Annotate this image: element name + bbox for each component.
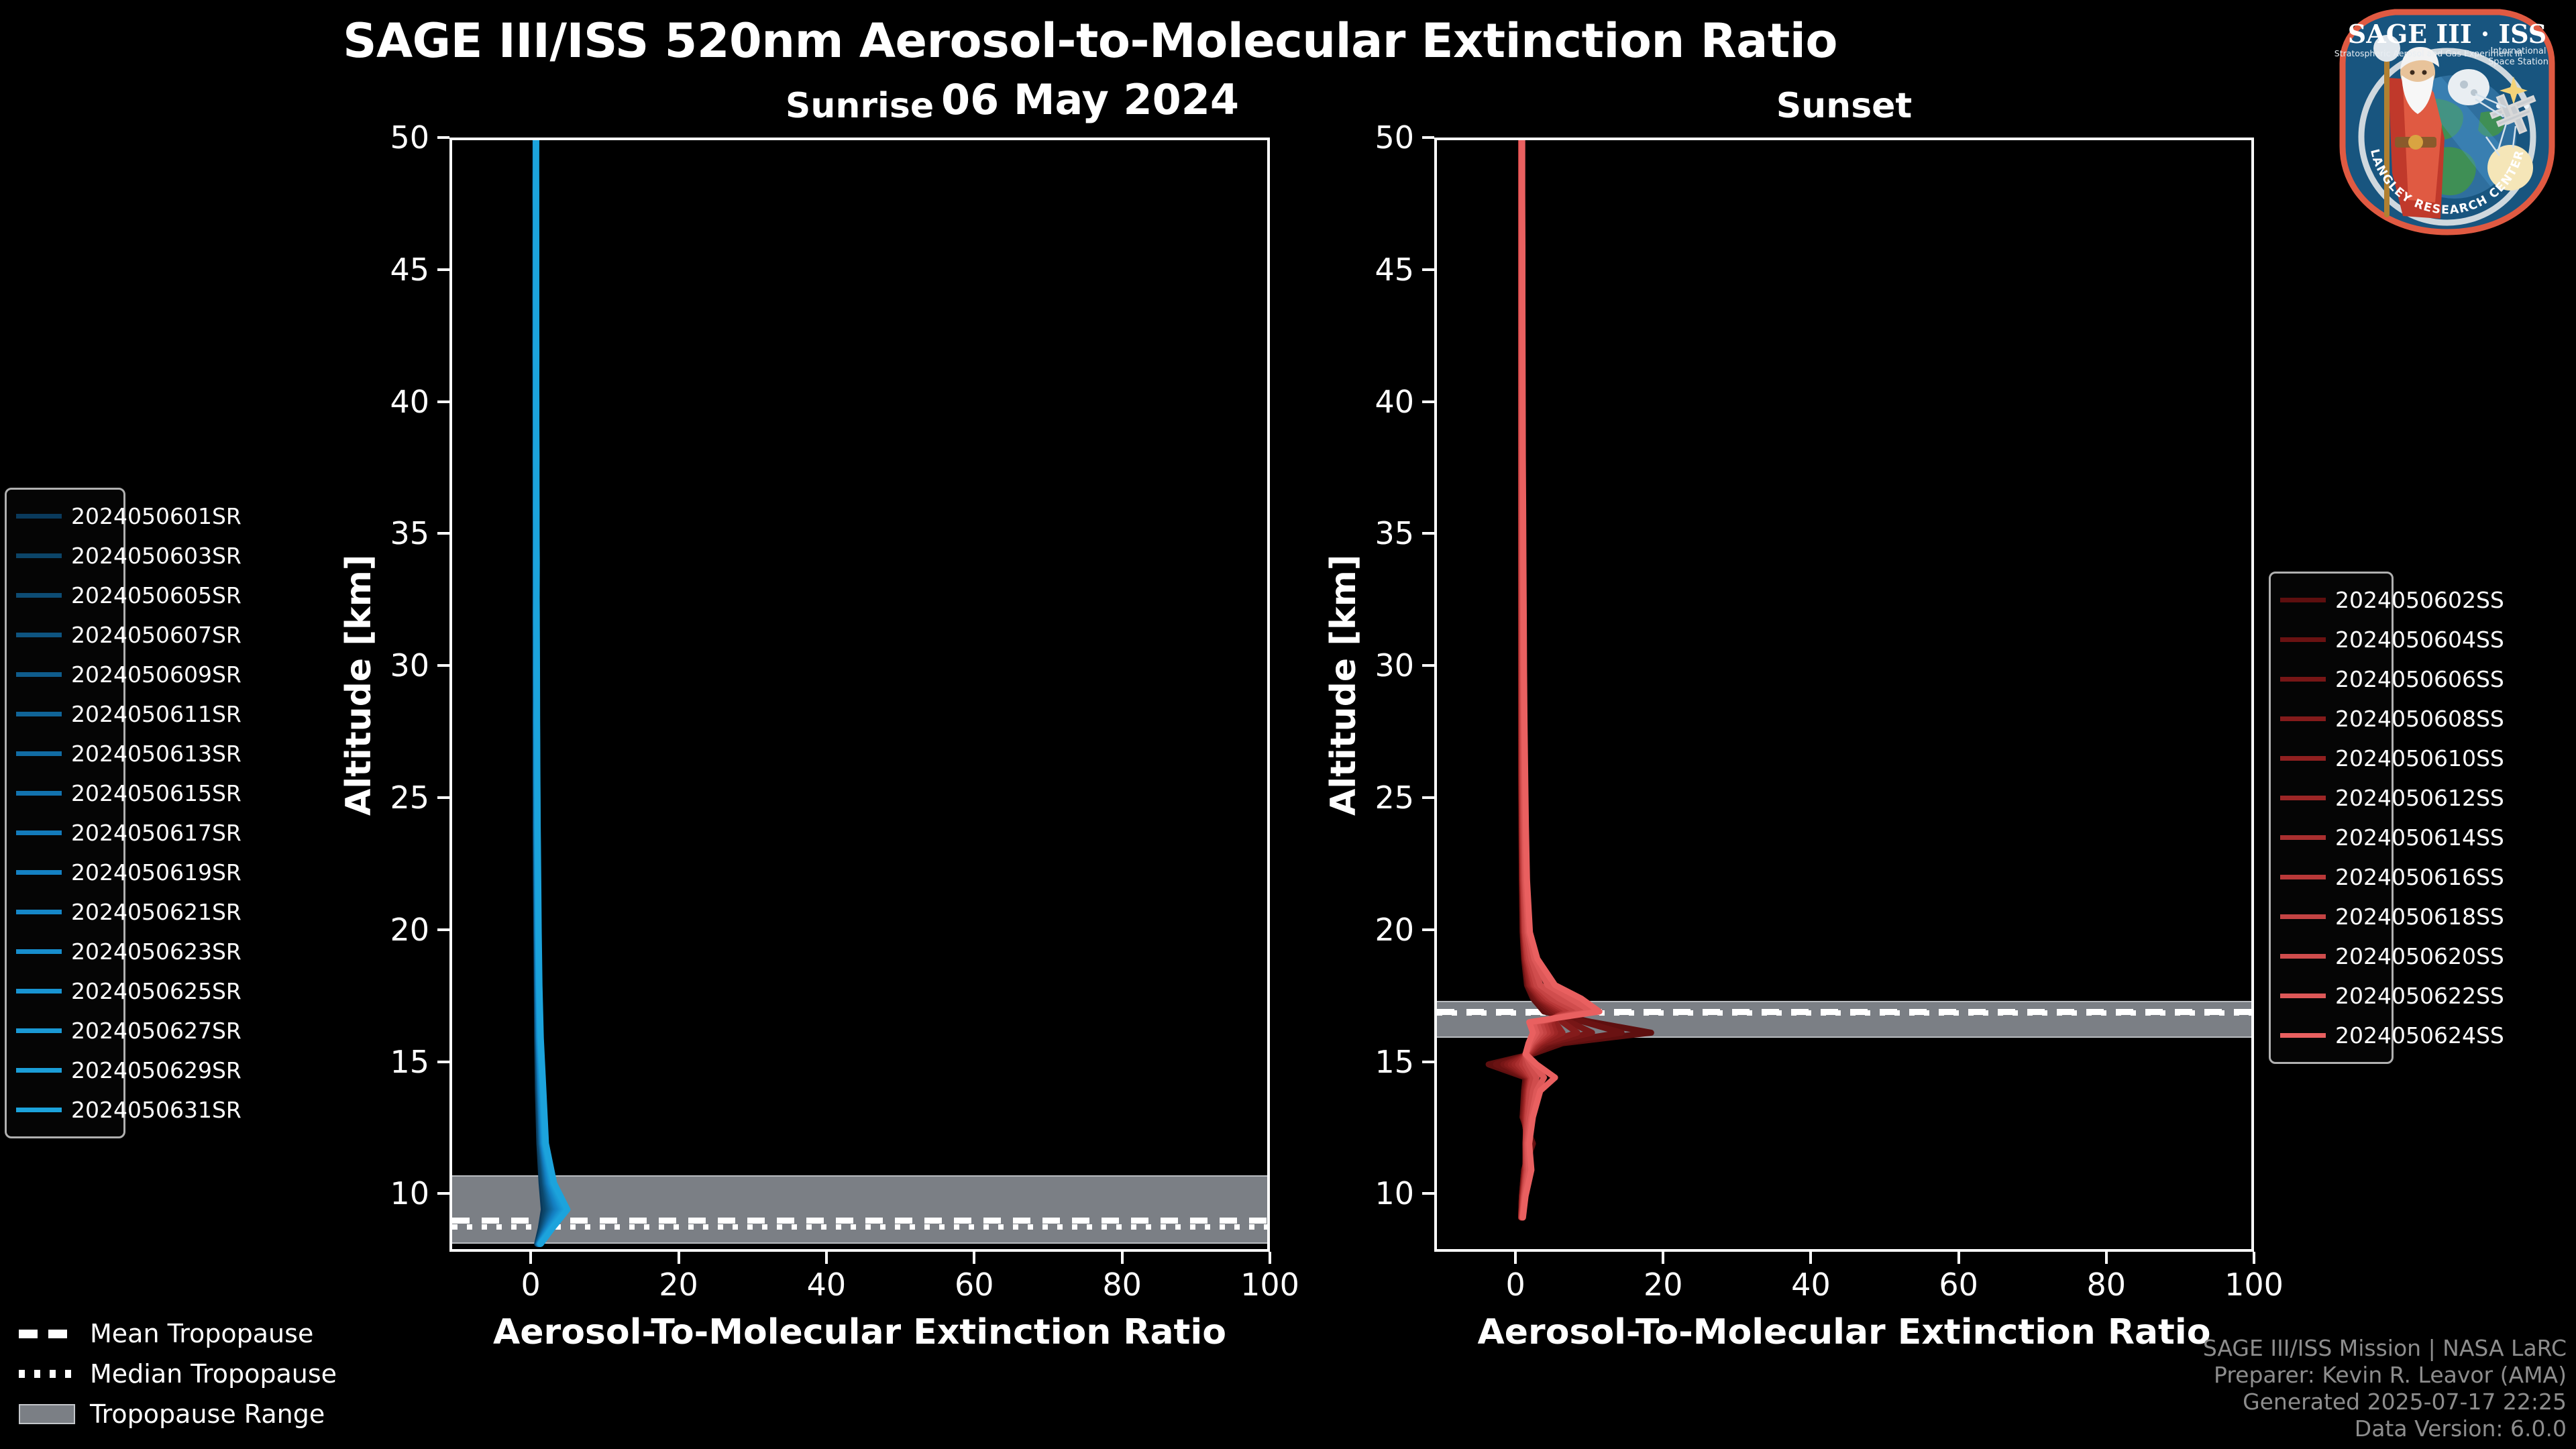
legend-color-swatch (16, 1108, 62, 1112)
legend-color-swatch (2280, 756, 2326, 761)
legend-color-swatch (16, 791, 62, 796)
legend-item-2024050623sr[interactable]: 2024050623SR (16, 932, 114, 971)
legend-color-swatch (2280, 835, 2326, 840)
legend-item-2024050604ss[interactable]: 2024050604SS (2280, 620, 2382, 659)
tropopause-legend-label: Mean Tropopause (90, 1319, 313, 1348)
y-tick-label: 20 (1340, 912, 1414, 948)
legend-color-swatch (2280, 875, 2326, 879)
legend-item-2024050605sr[interactable]: 2024050605SR (16, 576, 114, 615)
legend-item-label: 2024050613SR (71, 741, 241, 767)
series-line (1503, 140, 1592, 1218)
logo-title: SAGE III · ISS (2348, 19, 2546, 49)
legend-item-label: 2024050621SR (71, 899, 241, 925)
legend-item-label: 2024050631SR (71, 1097, 241, 1123)
legend-item-label: 2024050606SS (2335, 666, 2504, 692)
x-tick-label: 20 (659, 1267, 698, 1303)
x-tick-label: 60 (1939, 1267, 1978, 1303)
y-tick-mark (437, 268, 449, 271)
legend-item-label: 2024050609SR (71, 661, 241, 688)
legend-color-swatch (2280, 637, 2326, 642)
x-tick-label: 100 (1240, 1267, 1299, 1303)
legend-item-2024050625sr[interactable]: 2024050625SR (16, 971, 114, 1011)
y-tick-mark (437, 1192, 449, 1195)
legend-color-swatch (2280, 796, 2326, 800)
y-axis-label-sunset: Altitude [km] (1324, 554, 1364, 816)
legend-item-2024050618ss[interactable]: 2024050618SS (2280, 897, 2382, 936)
y-tick-label: 35 (1340, 515, 1414, 551)
x-tick-mark (2253, 1252, 2255, 1264)
legend-item-label: 2024050617SR (71, 820, 241, 846)
legend-item-label: 2024050602SS (2335, 587, 2504, 613)
x-tick-label: 20 (1644, 1267, 1683, 1303)
legend-item-2024050607sr[interactable]: 2024050607SR (16, 615, 114, 655)
legend-color-swatch (16, 593, 62, 598)
legend-item-label: 2024050601SR (71, 503, 241, 529)
y-tick-label: 10 (356, 1175, 429, 1212)
legend-item-2024050612ss[interactable]: 2024050612SS (2280, 778, 2382, 818)
x-tick-mark (973, 1252, 975, 1264)
y-tick-label: 50 (356, 119, 429, 156)
legend-item-label: 2024050624SS (2335, 1022, 2504, 1049)
legend-item-label: 2024050622SS (2335, 983, 2504, 1009)
y-tick-mark (437, 1061, 449, 1063)
x-tick-label: 40 (1791, 1267, 1831, 1303)
legend-item-label: 2024050603SR (71, 543, 241, 569)
tropopause-legend-item: Mean Tropopause (19, 1313, 368, 1354)
x-tick-mark (678, 1252, 680, 1264)
x-axis-label-sunset: Aerosol-To-Molecular Extinction Ratio (1434, 1312, 2254, 1352)
y-tick-label: 15 (1340, 1044, 1414, 1080)
legend-color-swatch (2280, 954, 2326, 959)
panel-title-sunset: Sunset (1434, 86, 2254, 126)
legend-sunrise-events[interactable]: 2024050601SR2024050603SR2024050605SR2024… (5, 488, 125, 1138)
y-tick-mark (437, 400, 449, 403)
y-tick-label: 45 (356, 252, 429, 288)
legend-color-swatch (16, 989, 62, 994)
sunset-plot-area (1434, 138, 2254, 1252)
sunrise-plot-area (449, 138, 1270, 1252)
legend-color-swatch (16, 633, 62, 637)
legend-color-swatch (16, 1028, 62, 1033)
legend-item-label: 2024050605SR (71, 582, 241, 608)
y-tick-mark (1422, 268, 1434, 271)
legend-color-swatch (16, 1068, 62, 1073)
legend-item-label: 2024050610SS (2335, 745, 2504, 771)
logo-subtitle-right-2: Space Station (2488, 57, 2548, 67)
y-tick-mark (437, 796, 449, 799)
x-tick-mark (1121, 1252, 1124, 1264)
y-tick-mark (1422, 796, 1434, 799)
y-tick-label: 40 (356, 384, 429, 420)
sunset-series-lines (1437, 140, 2254, 1252)
sunrise-series-lines (452, 140, 1270, 1252)
x-tick-label: 100 (2224, 1267, 2284, 1303)
legend-color-swatch (2280, 994, 2326, 998)
x-tick-mark (1957, 1252, 1960, 1264)
legend-color-swatch (16, 553, 62, 558)
x-tick-label: 0 (521, 1267, 541, 1303)
legend-item-label: 2024050625SR (71, 978, 241, 1004)
legend-color-swatch (16, 514, 62, 519)
legend-color-swatch (16, 712, 62, 716)
y-tick-mark (1422, 928, 1434, 931)
x-tick-mark (2105, 1252, 2108, 1264)
legend-item-2024050624ss[interactable]: 2024050624SS (2280, 1016, 2382, 1055)
legend-color-swatch (2280, 716, 2326, 721)
legend-item-label: 2024050629SR (71, 1057, 241, 1083)
series-line (536, 140, 568, 1244)
legend-item-label: 2024050604SS (2335, 627, 2504, 653)
legend-color-swatch (16, 672, 62, 677)
legend-item-2024050621sr[interactable]: 2024050621SR (16, 892, 114, 932)
legend-item-2024050616ss[interactable]: 2024050616SS (2280, 857, 2382, 897)
legend-item-2024050617sr[interactable]: 2024050617SR (16, 813, 114, 853)
legend-item-2024050611sr[interactable]: 2024050611SR (16, 694, 114, 734)
y-tick-label: 10 (1340, 1175, 1414, 1212)
legend-color-swatch (2280, 677, 2326, 682)
legend-item-label: 2024050608SS (2335, 706, 2504, 732)
series-line (1489, 140, 1651, 1218)
legend-item-label: 2024050614SS (2335, 824, 2504, 851)
y-tick-mark (1422, 532, 1434, 535)
legend-item-2024050613sr[interactable]: 2024050613SR (16, 734, 114, 773)
legend-item-label: 2024050618SS (2335, 904, 2504, 930)
legend-item-label: 2024050615SR (71, 780, 241, 806)
legend-tropopause: Mean TropopauseMedian TropopauseTropopau… (19, 1313, 368, 1434)
legend-color-swatch (2280, 914, 2326, 919)
legend-color-swatch (2280, 598, 2326, 602)
y-tick-mark (1422, 1192, 1434, 1195)
y-axis-label-sunrise: Altitude [km] (339, 554, 379, 816)
range-band-swatch (19, 1404, 75, 1424)
legend-item-2024050615sr[interactable]: 2024050615SR (16, 773, 114, 813)
credit-preparer: Preparer: Kevin R. Leavor (AMA) (2203, 1362, 2567, 1389)
legend-item-2024050614ss[interactable]: 2024050614SS (2280, 818, 2382, 857)
y-tick-label: 15 (356, 1044, 429, 1080)
dotted-line-swatch (19, 1370, 75, 1378)
legend-color-swatch (16, 910, 62, 914)
y-tick-mark (437, 532, 449, 535)
x-tick-mark (1514, 1252, 1517, 1264)
x-tick-label: 40 (807, 1267, 847, 1303)
legend-sunset-events[interactable]: 2024050602SS2024050604SS2024050606SS2024… (2269, 572, 2394, 1064)
legend-item-2024050610ss[interactable]: 2024050610SS (2280, 739, 2382, 778)
x-tick-mark (1662, 1252, 1664, 1264)
x-tick-label: 0 (1505, 1267, 1525, 1303)
y-tick-mark (437, 928, 449, 931)
y-tick-mark (1422, 1061, 1434, 1063)
y-tick-mark (1422, 136, 1434, 139)
tropopause-legend-item: Tropopause Range (19, 1394, 368, 1434)
legend-item-label: 2024050612SS (2335, 785, 2504, 811)
legend-item-label: 2024050619SR (71, 859, 241, 885)
legend-item-label: 2024050623SR (71, 938, 241, 965)
tropopause-legend-item: Median Tropopause (19, 1354, 368, 1394)
legend-item-2024050602ss[interactable]: 2024050602SS (2280, 580, 2382, 620)
y-tick-label: 50 (1340, 119, 1414, 156)
x-axis-label-sunrise: Aerosol-To-Molecular Extinction Ratio (449, 1312, 1270, 1352)
legend-item-label: 2024050620SS (2335, 943, 2504, 969)
series-line (1496, 140, 1621, 1218)
legend-item-2024050601sr[interactable]: 2024050601SR (16, 496, 114, 536)
legend-item-2024050629sr[interactable]: 2024050629SR (16, 1051, 114, 1090)
legend-item-label: 2024050627SR (71, 1018, 241, 1044)
legend-item-2024050620ss[interactable]: 2024050620SS (2280, 936, 2382, 976)
x-tick-mark (1269, 1252, 1271, 1264)
y-tick-label: 45 (1340, 252, 1414, 288)
y-tick-mark (437, 664, 449, 667)
y-tick-label: 35 (356, 515, 429, 551)
credit-mission: SAGE III/ISS Mission | NASA LaRC (2203, 1335, 2567, 1362)
legend-color-swatch (2280, 1033, 2326, 1038)
panel-title-sunrise: Sunrise (449, 86, 1270, 126)
credits-block: SAGE III/ISS Mission | NASA LaRC Prepare… (2203, 1335, 2567, 1442)
legend-item-2024050608ss[interactable]: 2024050608SS (2280, 699, 2382, 739)
legend-color-swatch (16, 949, 62, 954)
legend-color-swatch (16, 751, 62, 756)
tropopause-legend-label: Tropopause Range (90, 1399, 325, 1429)
legend-item-2024050622ss[interactable]: 2024050622SS (2280, 976, 2382, 1016)
x-tick-mark (1809, 1252, 1812, 1264)
y-tick-label: 40 (1340, 384, 1414, 420)
sage-iii-iss-logo: SAGE III · ISS Stratospheric Aerosol and… (2330, 5, 2564, 239)
tropopause-legend-label: Median Tropopause (90, 1359, 337, 1389)
legend-item-label: 2024050616SS (2335, 864, 2504, 890)
x-tick-mark (825, 1252, 828, 1264)
legend-color-swatch (16, 830, 62, 835)
x-tick-label: 80 (2087, 1267, 2127, 1303)
dashed-line-swatch (19, 1330, 75, 1338)
y-tick-mark (1422, 400, 1434, 403)
legend-item-label: 2024050611SR (71, 701, 241, 727)
legend-item-2024050631sr[interactable]: 2024050631SR (16, 1090, 114, 1130)
page-title: SAGE III/ISS 520nm Aerosol-to-Molecular … (0, 13, 2180, 68)
x-tick-label: 80 (1102, 1267, 1142, 1303)
x-tick-mark (529, 1252, 532, 1264)
legend-item-2024050606ss[interactable]: 2024050606SS (2280, 659, 2382, 699)
y-tick-mark (1422, 664, 1434, 667)
legend-color-swatch (16, 870, 62, 875)
x-tick-label: 60 (955, 1267, 994, 1303)
logo-subtitle-right-1: International (2491, 46, 2546, 56)
legend-item-2024050619sr[interactable]: 2024050619SR (16, 853, 114, 892)
legend-item-label: 2024050607SR (71, 622, 241, 648)
legend-item-2024050609sr[interactable]: 2024050609SR (16, 655, 114, 694)
y-tick-label: 20 (356, 912, 429, 948)
y-tick-mark (437, 136, 449, 139)
legend-item-2024050603sr[interactable]: 2024050603SR (16, 536, 114, 576)
legend-item-2024050627sr[interactable]: 2024050627SR (16, 1011, 114, 1051)
credit-generated: Generated 2025-07-17 22:25 (2203, 1389, 2567, 1415)
credit-data-version: Data Version: 6.0.0 (2203, 1415, 2567, 1442)
